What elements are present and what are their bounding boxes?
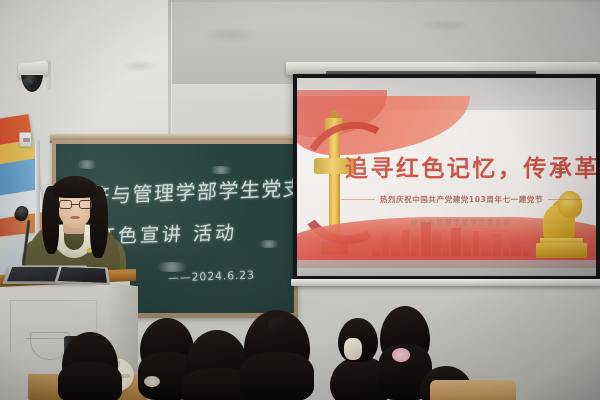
skyline-building xyxy=(463,236,471,256)
slide-bottom-band xyxy=(297,260,596,276)
skyline-building xyxy=(473,231,480,256)
switch-slot xyxy=(23,138,30,142)
wall-smudge xyxy=(200,26,260,44)
chair-back xyxy=(430,380,516,400)
podium-panel-line xyxy=(10,300,11,352)
podium-panel-line xyxy=(10,300,96,301)
projection-screen[interactable]: 追寻红色记忆，传承革命薪火 热烈庆祝中国共产党建党103周年七一建党节 经济与管… xyxy=(293,74,600,280)
speaker-mouth xyxy=(70,216,80,219)
glasses-bridge xyxy=(72,204,79,205)
screen-surface: 追寻红色记忆，传承革命薪火 热烈庆祝中国共产党建党103周年七一建党节 经济与管… xyxy=(297,78,596,276)
subtitle-rule-right xyxy=(548,199,582,200)
lion-pedestal xyxy=(536,243,587,259)
presentation-slide: 追寻红色记忆，传承革命薪火 热烈庆祝中国共产党建党103周年七一建党节 经济与管… xyxy=(297,78,596,276)
glasses-right-lens xyxy=(79,200,92,209)
blackboard-date: ——2024.6.23 xyxy=(168,268,255,284)
slide-title: 追寻红色记忆，传承革命薪火 xyxy=(345,149,584,183)
skyline-building xyxy=(372,243,380,256)
audience-hair xyxy=(240,352,314,400)
skyline-building xyxy=(523,244,531,256)
skyline-building xyxy=(511,237,521,256)
skyline-building xyxy=(382,236,389,256)
security-camera-icon xyxy=(18,62,51,98)
speaker-hair-right xyxy=(90,186,108,258)
wall-switch-plate[interactable] xyxy=(19,132,32,147)
skyline-building xyxy=(493,234,501,256)
podium-monitor-secondary[interactable] xyxy=(54,266,110,285)
wall-smudge xyxy=(420,18,472,32)
ceiling-seam xyxy=(168,0,600,2)
skyline-building xyxy=(481,240,491,257)
slide-subtitle: 热烈庆祝中国共产党建党103周年七一建党节 xyxy=(380,194,543,205)
skyline-building xyxy=(451,228,461,257)
chalk-dust xyxy=(74,160,100,169)
hair-clip xyxy=(344,338,362,360)
camera-lens xyxy=(27,79,36,87)
glasses-left-lens xyxy=(59,200,72,209)
chalk-dust xyxy=(256,240,282,248)
subtitle-rule-left xyxy=(341,199,375,200)
skyline-building xyxy=(402,230,409,256)
skyline-building xyxy=(421,222,431,256)
skyline-building xyxy=(503,242,510,256)
chalk-dust xyxy=(206,166,236,174)
skyline-building xyxy=(442,239,449,256)
skyline-building xyxy=(391,240,401,256)
pink-scrunchie xyxy=(392,348,410,362)
slide-subtitle-row: 热烈庆祝中国共产党建党103周年七一建党节 xyxy=(339,194,584,205)
classroom-photo: 经济与管理学部学生党支部 红色宣讲 活动 ——2024.6.23 xyxy=(0,0,600,400)
screen-bottom-weight-bar xyxy=(291,279,600,286)
skyline-building xyxy=(411,236,419,257)
audience-hair xyxy=(58,362,122,400)
glasses-icon xyxy=(59,200,92,209)
wall-smudge xyxy=(120,60,160,72)
skyline-building xyxy=(432,232,440,257)
hair-bun xyxy=(268,318,288,332)
monitor-screen-secondary xyxy=(58,267,107,283)
hair-clip xyxy=(144,376,160,387)
slide-organization: 经济与管理学部学生党支部 xyxy=(339,217,584,227)
